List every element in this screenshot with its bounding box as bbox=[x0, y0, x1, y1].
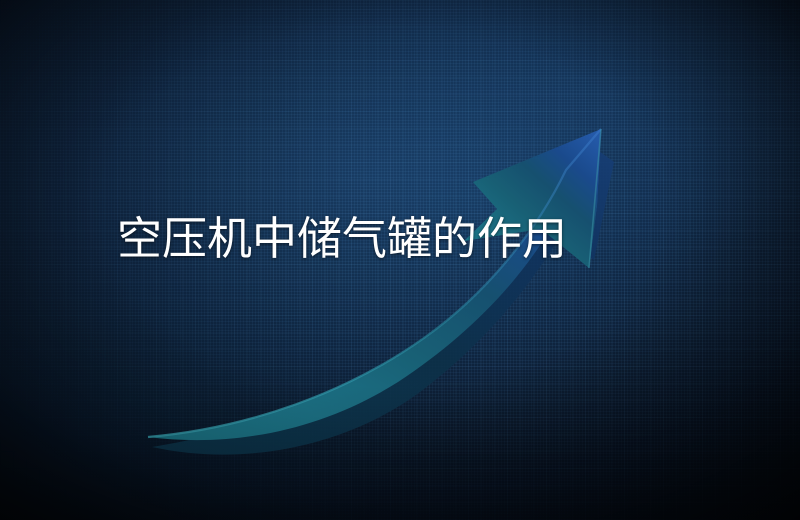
page-title: 空压机中储气罐的作用 bbox=[117, 216, 567, 261]
slide-canvas: 空压机中储气罐的作用 bbox=[0, 0, 800, 520]
